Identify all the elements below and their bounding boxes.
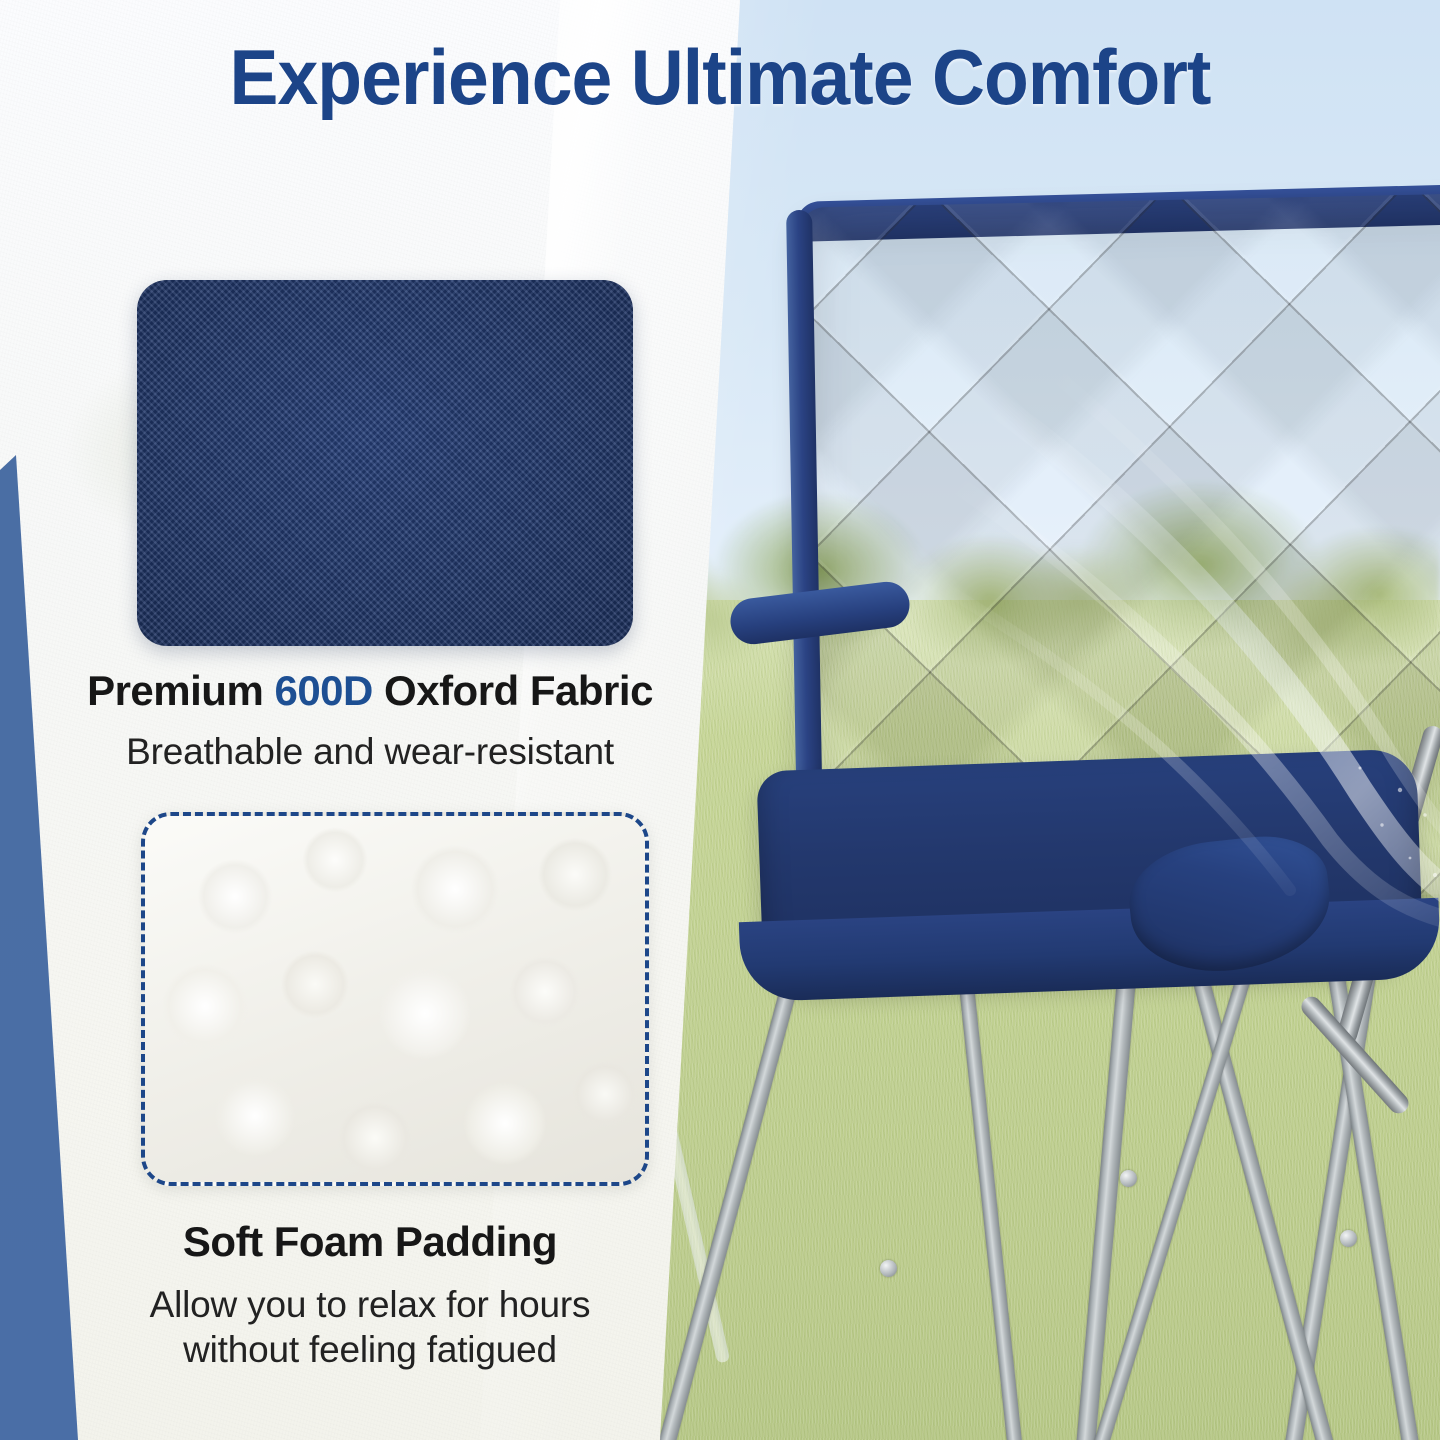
fabric-feature-title: Premium 600D Oxford Fabric bbox=[10, 667, 730, 715]
fabric-title-prefix: Premium bbox=[87, 667, 274, 714]
frame-rivet bbox=[1340, 1230, 1357, 1247]
fabric-title-suffix: Oxford Fabric bbox=[373, 667, 653, 714]
foam-subtitle-line-2: without feeling fatigued bbox=[183, 1329, 557, 1370]
fabric-title-highlight: 600D bbox=[274, 667, 372, 714]
promo-graphic: Experience Ultimate Comfort Premium 600D… bbox=[0, 0, 1440, 1440]
foam-feature-subtitle: Allow you to relax for hourswithout feel… bbox=[10, 1282, 730, 1372]
frame-rivet bbox=[1120, 1170, 1137, 1187]
camping-chair-product bbox=[700, 140, 1440, 1440]
foam-swatch-image bbox=[141, 812, 649, 1186]
page-title: Experience Ultimate Comfort bbox=[43, 38, 1397, 116]
foam-subtitle-line-1: Allow you to relax for hours bbox=[150, 1284, 591, 1325]
fabric-swatch-image bbox=[137, 280, 633, 646]
frame-rivet bbox=[880, 1260, 897, 1277]
fabric-feature-subtitle: Breathable and wear-resistant bbox=[10, 729, 730, 774]
foam-feature-title: Soft Foam Padding bbox=[10, 1218, 730, 1266]
